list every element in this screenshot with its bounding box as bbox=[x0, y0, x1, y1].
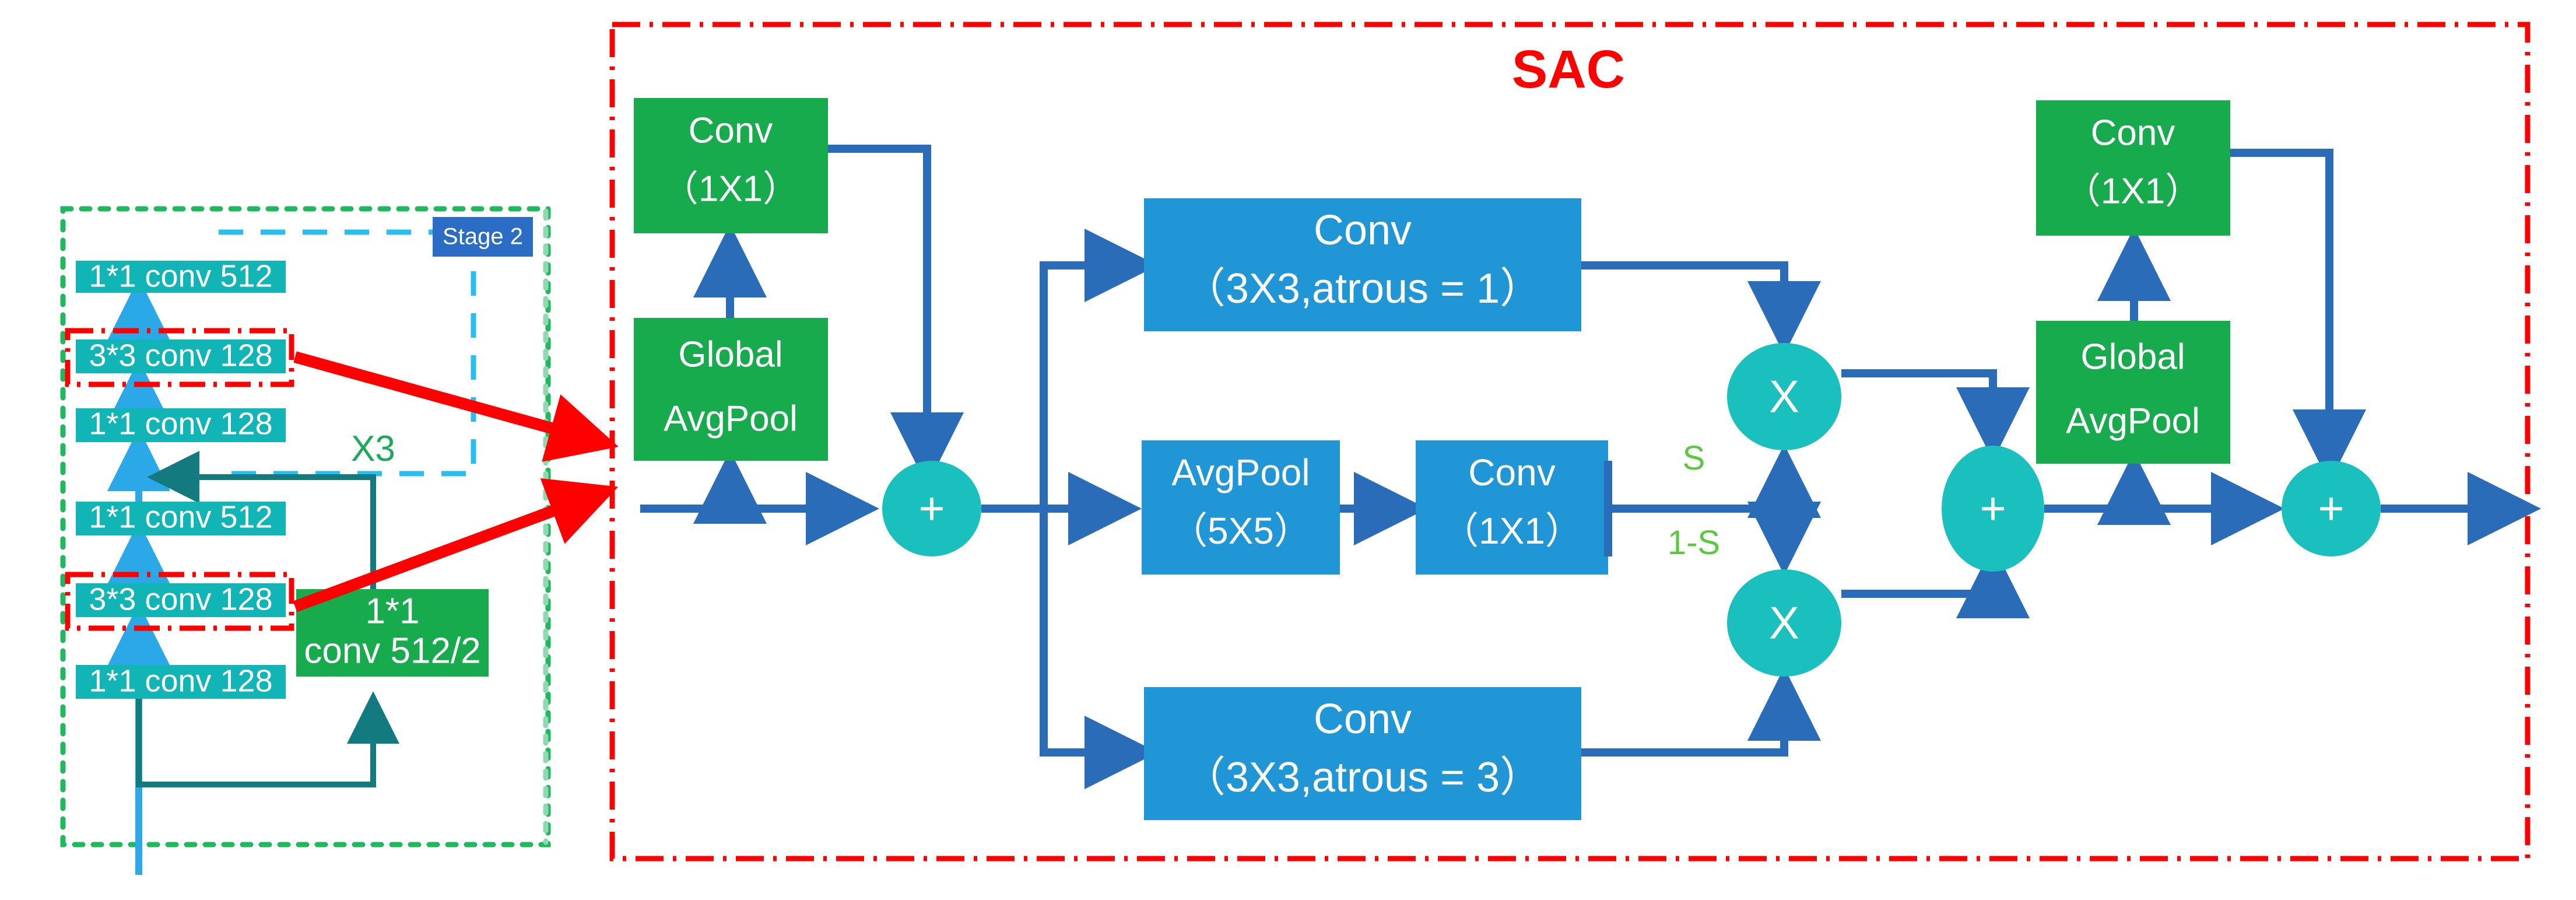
sac-right-pool-line1: Global bbox=[2080, 337, 2185, 377]
repeat-label: X3 bbox=[351, 429, 395, 469]
sac-mul-top: X bbox=[1727, 343, 1841, 450]
shortcut-conv-line2: conv 512/2 bbox=[304, 631, 480, 671]
sac-add-left: + bbox=[882, 461, 981, 556]
stage-badge: Stage 2 bbox=[433, 217, 533, 257]
sac-right-pool-block[interactable]: Global AvgPool bbox=[2036, 321, 2230, 464]
stage-badge-label: Stage 2 bbox=[443, 224, 523, 250]
shortcut-conv-block[interactable]: 1*1 conv 512/2 bbox=[296, 589, 489, 677]
sac-right-conv-block[interactable]: Conv （1X1） bbox=[2036, 100, 2230, 236]
sac-right-pool-line2: AvgPool bbox=[2066, 401, 2200, 441]
backbone-block[interactable]: 3*3 conv 128 bbox=[76, 582, 286, 617]
sac-left-conv-block[interactable]: Conv （1X1） bbox=[634, 98, 828, 233]
sac-top-conv-block[interactable]: Conv （3X3,atrous = 1） bbox=[1144, 198, 1581, 331]
backbone-block-label: 1*1 conv 512 bbox=[89, 499, 272, 534]
sac-add-left-label: + bbox=[918, 483, 945, 534]
sac-add-right-label: + bbox=[2318, 483, 2345, 534]
sac-right-conv-line2: （1X1） bbox=[2065, 171, 2201, 211]
sac-bottom-conv-line2: （3X3,atrous = 3） bbox=[1184, 754, 1542, 801]
sac-mul-bottom: X bbox=[1727, 569, 1841, 677]
backbone-block[interactable]: 1*1 conv 512 bbox=[76, 258, 286, 293]
sac-top-conv-line2: （3X3,atrous = 1） bbox=[1184, 265, 1542, 312]
sac-bottom-conv-block[interactable]: Conv （3X3,atrous = 3） bbox=[1144, 687, 1581, 820]
sac-mul-bottom-label: X bbox=[1769, 597, 1799, 649]
backbone-block-label: 1*1 conv 512 bbox=[89, 258, 272, 293]
backbone-block-label: 3*3 conv 128 bbox=[89, 582, 272, 617]
sac-add-mid-label: + bbox=[1980, 483, 2006, 534]
backbone-block-label: 1*1 conv 128 bbox=[89, 406, 272, 441]
sac-mul-top-label: X bbox=[1769, 371, 1799, 422]
backbone-block[interactable]: 1*1 conv 512 bbox=[76, 499, 286, 535]
sac-mid-pool-block[interactable]: AvgPool （5X5） bbox=[1142, 440, 1340, 575]
sac-title: SAC bbox=[1512, 40, 1625, 99]
backbone-block-label: 1*1 conv 128 bbox=[89, 663, 272, 698]
sac-add-mid: + bbox=[1942, 446, 2044, 572]
backbone-block-label: 3*3 conv 128 bbox=[89, 338, 272, 373]
diagram-canvas: 1*1 conv 512 3*3 conv 128 1*1 conv 128 1… bbox=[0, 0, 2576, 900]
sac-mid-pool-line1: AvgPool bbox=[1171, 451, 1310, 493]
sac-mid-conv-line1: Conv bbox=[1468, 451, 1555, 493]
sac-add-right: + bbox=[2282, 461, 2381, 556]
sac-left-conv-line1: Conv bbox=[689, 110, 773, 150]
sac-mid-pool-line2: （5X5） bbox=[1170, 510, 1311, 552]
sac-mid-conv-block[interactable]: Conv （1X1） bbox=[1416, 440, 1608, 575]
sac-mid-conv-line2: （1X1） bbox=[1441, 510, 1582, 552]
sac-top-conv-line1: Conv bbox=[1314, 207, 1412, 254]
backbone-block[interactable]: 3*3 conv 128 bbox=[76, 338, 286, 373]
sac-left-pool-line2: AvgPool bbox=[664, 398, 798, 439]
shortcut-conv-line1: 1*1 bbox=[365, 591, 419, 631]
switch-label-1ms: 1-S bbox=[1668, 524, 1720, 562]
backbone-block[interactable]: 1*1 conv 128 bbox=[76, 406, 286, 442]
sac-right-conv-line1: Conv bbox=[2091, 113, 2175, 153]
callout-arrow-upper bbox=[295, 357, 602, 442]
switch-label-s: S bbox=[1683, 439, 1705, 477]
backbone-block[interactable]: 1*1 conv 128 bbox=[76, 663, 286, 699]
sac-left-pool-line1: Global bbox=[678, 334, 782, 374]
sac-bottom-conv-line1: Conv bbox=[1314, 696, 1412, 743]
sac-left-pool-block[interactable]: Global AvgPool bbox=[634, 318, 828, 461]
sac-left-conv-line2: （1X1） bbox=[662, 169, 799, 209]
